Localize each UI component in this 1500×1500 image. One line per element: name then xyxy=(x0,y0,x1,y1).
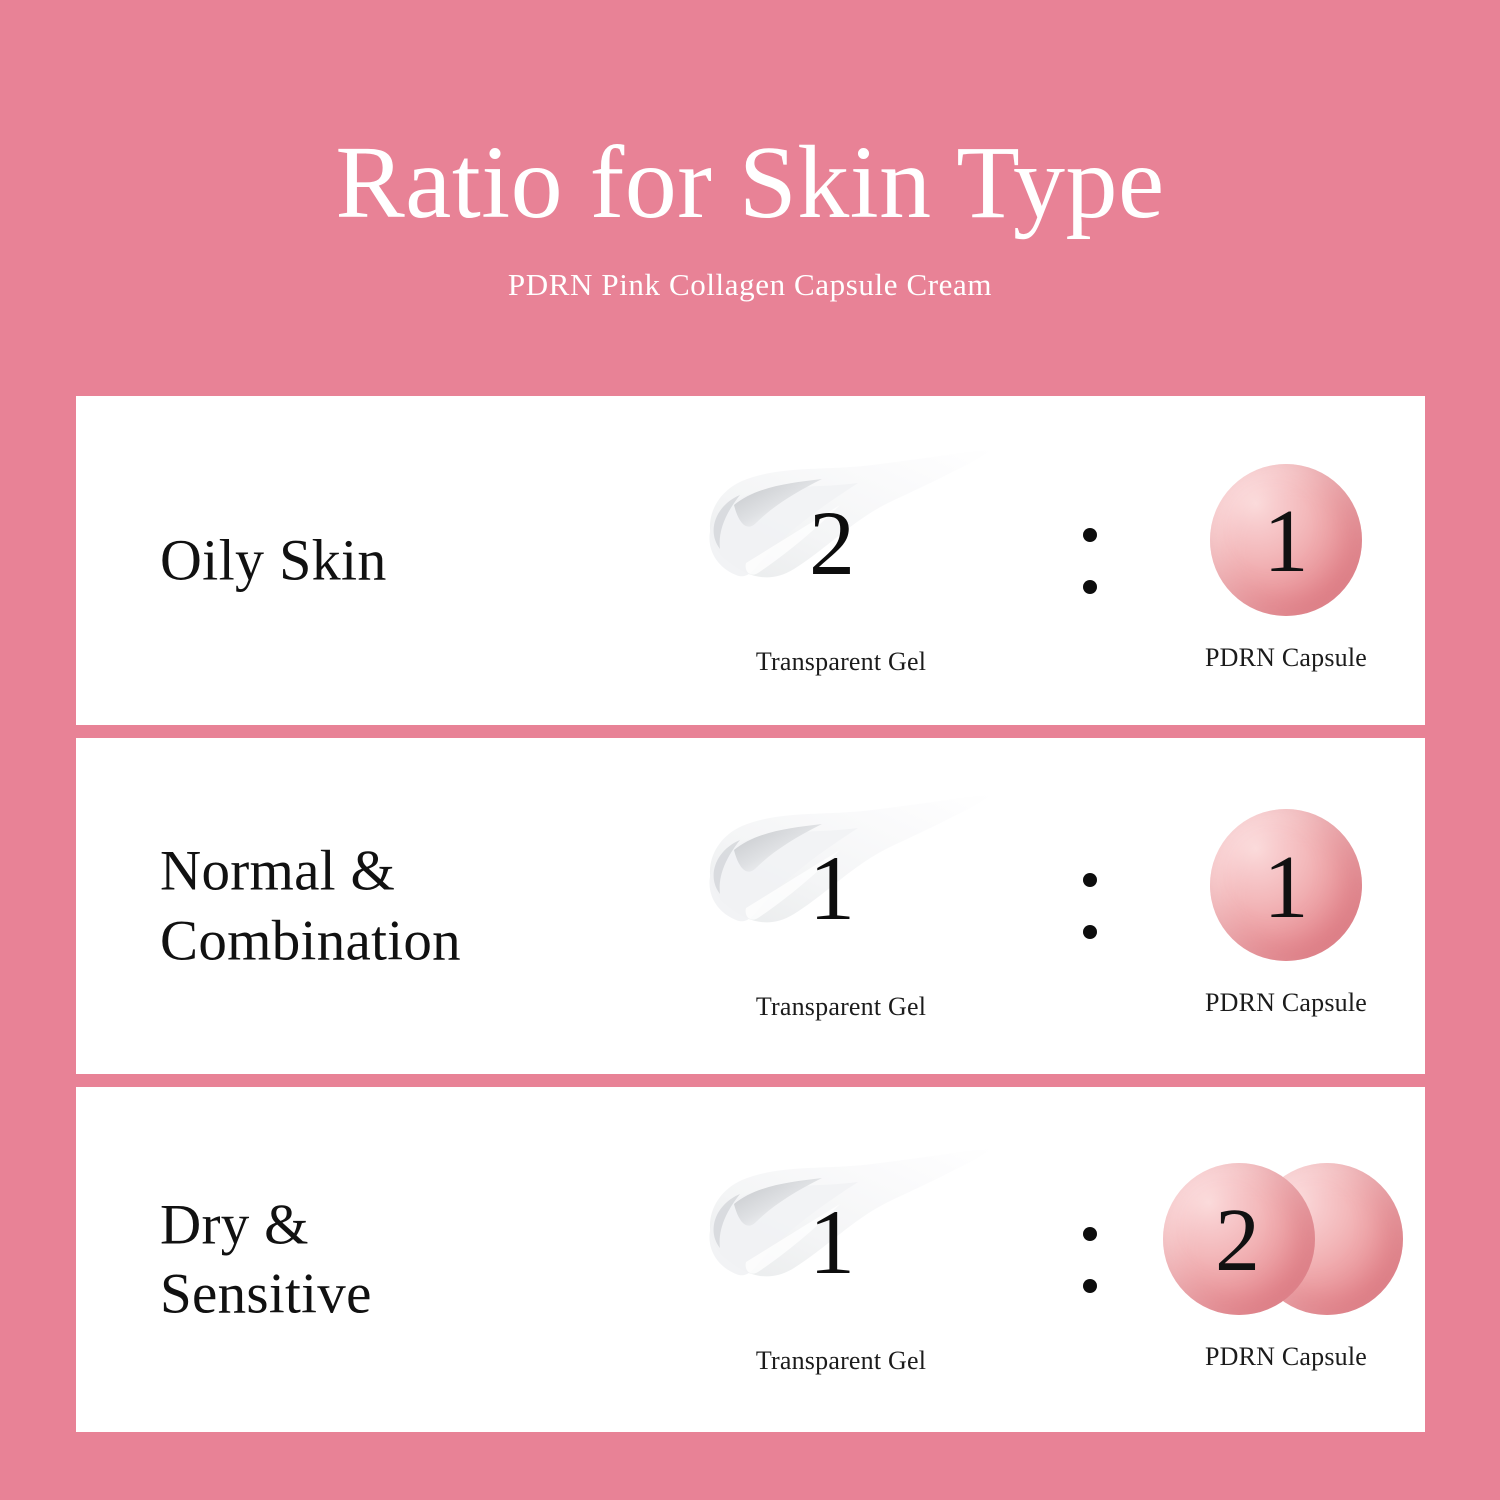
colon-dot-bottom xyxy=(1083,925,1097,939)
skin-type-label: Oily Skin xyxy=(160,525,387,596)
gel-caption: Transparent Gel xyxy=(676,647,1006,677)
ratio-separator xyxy=(1083,873,1099,939)
capsule-group: 2 PDRN Capsule xyxy=(1151,1148,1421,1372)
colon-dot-top xyxy=(1083,528,1097,542)
page-subtitle: PDRN Pink Collagen Capsule Cream xyxy=(0,267,1500,303)
pdrn-capsule-icon: 2 xyxy=(1151,1148,1421,1330)
capsule-amount: 2 xyxy=(1151,1148,1421,1330)
gel-amount: 2 xyxy=(676,445,1006,635)
ratio-card-dry-sensitive: Dry & Sensitive xyxy=(76,1087,1425,1432)
gel-amount: 1 xyxy=(676,1144,1006,1334)
gel-group: 1 Transparent Gel xyxy=(676,790,1006,1022)
pdrn-capsule-icon: 1 xyxy=(1151,449,1421,631)
capsule-group: 1 PDRN Capsule xyxy=(1151,449,1421,673)
gel-group: 2 Transparent Gel xyxy=(676,445,1006,677)
infographic-page: Ratio for Skin Type PDRN Pink Collagen C… xyxy=(0,0,1500,1500)
capsule-amount: 1 xyxy=(1151,449,1421,631)
skin-type-label: Normal & Combination xyxy=(160,836,461,975)
pdrn-capsule-icon: 1 xyxy=(1151,794,1421,976)
colon-dot-bottom xyxy=(1083,1279,1097,1293)
ratio-separator xyxy=(1083,1227,1099,1293)
gel-caption: Transparent Gel xyxy=(676,1346,1006,1376)
capsule-amount: 1 xyxy=(1151,794,1421,976)
ratio-separator xyxy=(1083,528,1099,594)
gel-amount: 1 xyxy=(676,790,1006,980)
transparent-gel-swatch-icon: 1 xyxy=(676,790,1006,980)
transparent-gel-swatch-icon: 1 xyxy=(676,1144,1006,1334)
colon-dot-bottom xyxy=(1083,580,1097,594)
header: Ratio for Skin Type PDRN Pink Collagen C… xyxy=(0,0,1500,303)
capsule-group: 1 PDRN Capsule xyxy=(1151,794,1421,1018)
page-title: Ratio for Skin Type xyxy=(0,128,1500,237)
capsule-caption: PDRN Capsule xyxy=(1151,988,1421,1018)
ratio-card-oily-skin: Oily Skin xyxy=(76,396,1425,725)
capsule-caption: PDRN Capsule xyxy=(1151,1342,1421,1372)
transparent-gel-swatch-icon: 2 xyxy=(676,445,1006,635)
gel-group: 1 Transparent Gel xyxy=(676,1144,1006,1376)
colon-dot-top xyxy=(1083,873,1097,887)
skin-type-label: Dry & Sensitive xyxy=(160,1190,372,1329)
colon-dot-top xyxy=(1083,1227,1097,1241)
ratio-card-normal-combination: Normal & Combination xyxy=(76,738,1425,1074)
gel-caption: Transparent Gel xyxy=(676,992,1006,1022)
capsule-caption: PDRN Capsule xyxy=(1151,643,1421,673)
ratio-card-list: Oily Skin xyxy=(76,396,1425,1432)
